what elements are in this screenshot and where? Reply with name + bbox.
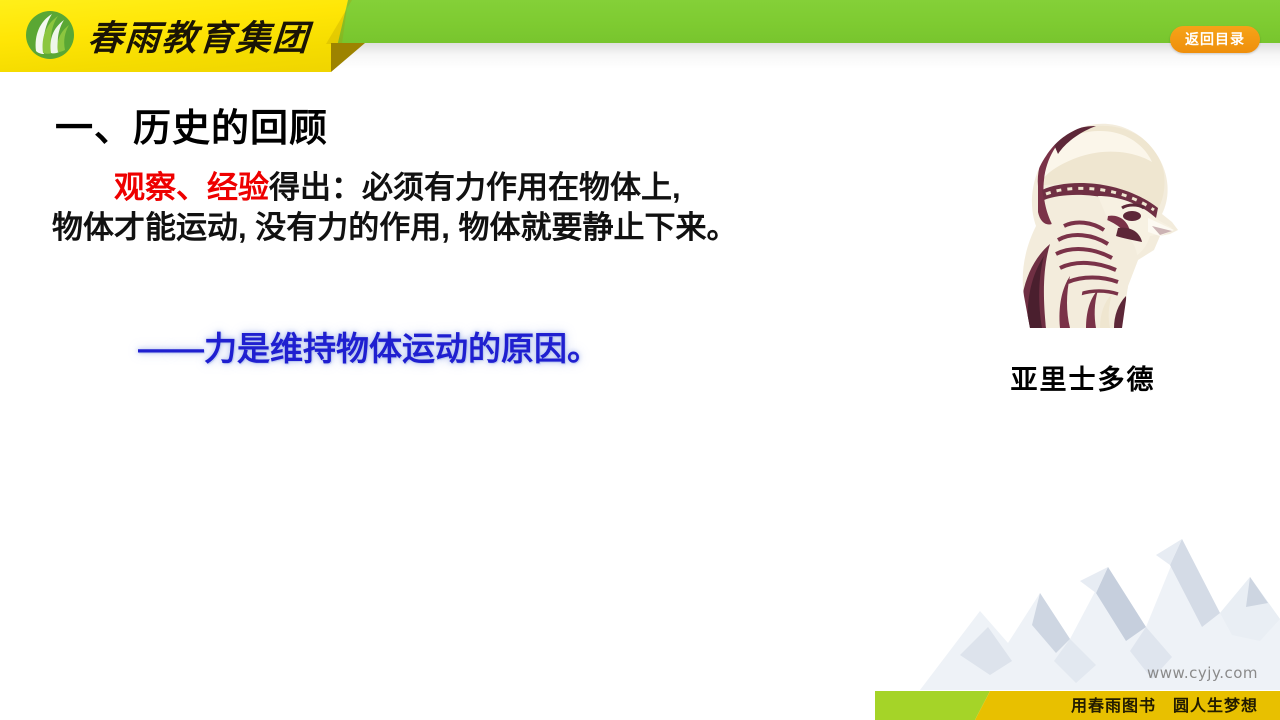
logo-wordmark: 春雨教育集团: [86, 10, 312, 61]
slide-header: 春雨教育集团 返回目录: [0, 0, 1280, 72]
body-line-1: 观察、经验得出：必须有力作用在物体上,: [52, 168, 932, 208]
leaf-circle-icon: [22, 7, 78, 63]
back-to-contents-button[interactable]: 返回目录: [1170, 26, 1260, 53]
body-line-2: 物体才能运动, 没有力的作用, 物体就要静止下来。: [52, 208, 932, 248]
footer-green-segment: [875, 691, 990, 720]
brand-logo: 春雨教育集团: [22, 7, 310, 63]
body-line-1-rest: 得出：必须有力作用在物体上,: [269, 170, 681, 205]
footer-band: 用春雨图书 圆人生梦想: [0, 691, 1280, 720]
portrait-caption: 亚里士多德: [972, 358, 1194, 397]
highlighted-keywords: 观察、经验: [114, 170, 269, 205]
body-paragraph: 观察、经验得出：必须有力作用在物体上, 物体才能运动, 没有力的作用, 物体就要…: [52, 168, 932, 247]
slide-root: 春雨教育集团 返回目录 一、历史的回顾 观察、经验得出：必须有力作用在物体上, …: [0, 0, 1280, 720]
footer-slogan: 用春雨图书 圆人生梦想: [1071, 692, 1258, 716]
conclusion-statement: ——力是维持物体运动的原因。: [138, 322, 600, 370]
aristotle-portrait-image: [972, 100, 1194, 328]
site-url: www.cyjy.com: [1147, 664, 1258, 682]
page-title: 一、历史的回顾: [55, 97, 328, 152]
